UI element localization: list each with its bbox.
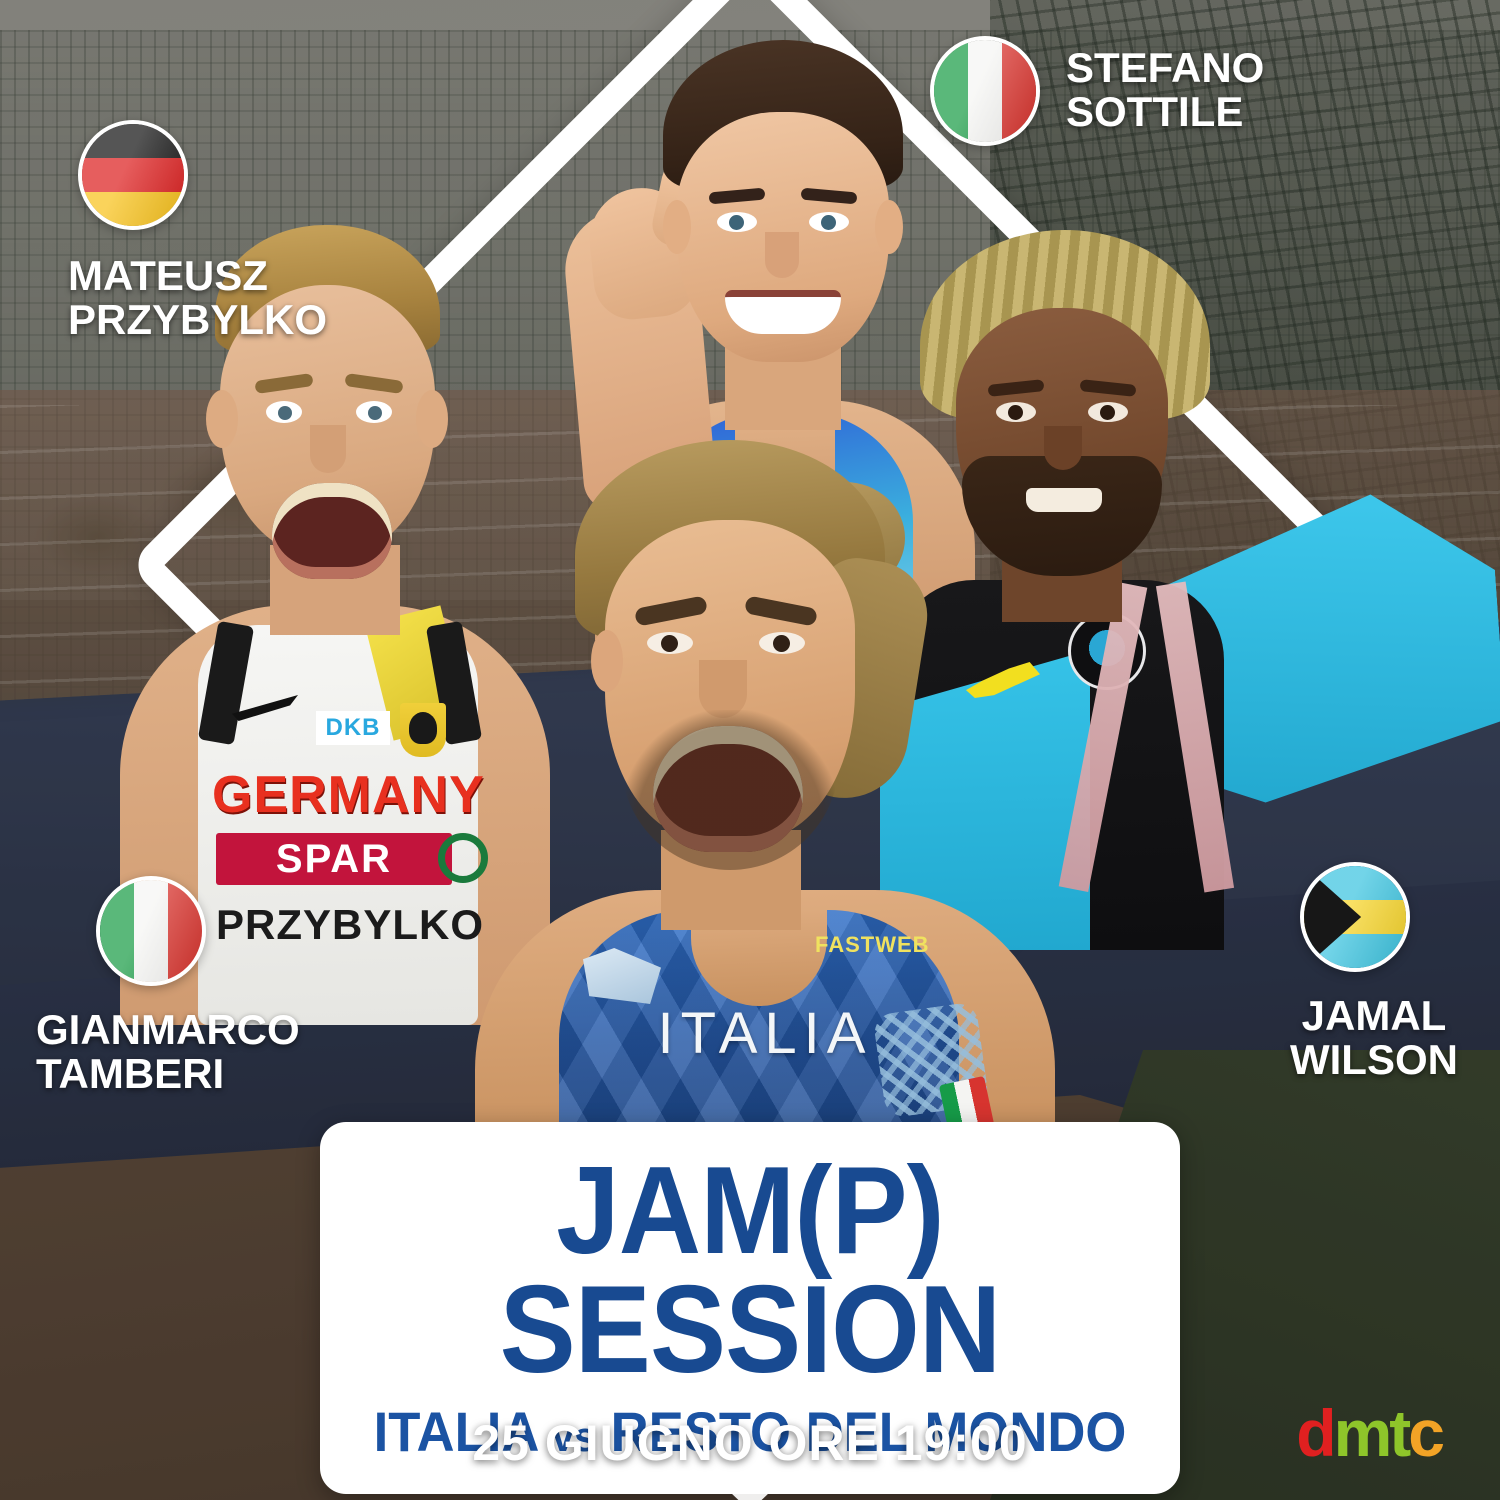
flag-germany-icon — [78, 120, 188, 230]
tamberi-ear-left — [591, 630, 623, 692]
logo-letter-c: c — [1408, 1396, 1442, 1470]
przybylko-pupil-left — [278, 406, 292, 420]
flag-italy-icon — [930, 36, 1040, 146]
event-date-time: 25 GIUGNO ORE 19:00 — [472, 1414, 1027, 1472]
athlete-label-tamberi: GIANMARCO TAMBERI — [96, 876, 300, 1095]
germany-jersey-text: GERMANY — [212, 765, 462, 825]
przybylko-mouth — [272, 483, 392, 579]
event-title: JAM(P) SESSION — [354, 1152, 1145, 1390]
tamberi-pupil-left — [661, 635, 678, 652]
dmtc-logo: dmtc — [1296, 1400, 1442, 1466]
logo-letter-t: t — [1389, 1396, 1408, 1470]
card-notch-icon — [730, 1492, 770, 1500]
wilson-pupil-left — [1008, 405, 1023, 420]
wilson-pupil-right — [1100, 405, 1115, 420]
sottile-nose — [765, 232, 799, 278]
sottile-smile — [725, 290, 841, 334]
sottile-ear-left — [663, 200, 691, 254]
dkb-sponsor-logo: DKB — [316, 711, 390, 745]
tamberi-nose — [699, 660, 747, 718]
flag-italy-icon — [96, 876, 206, 986]
athlete-photo-tamberi: FASTWEB ITALIA — [455, 420, 1075, 1140]
poster-canvas: DKB GERMANY SPAR PRZYBYLKO — [0, 0, 1500, 1500]
athlete-label-wilson: JAMAL WILSON — [1300, 862, 1458, 1081]
athlete-name-tamberi: GIANMARCO TAMBERI — [36, 1008, 300, 1095]
logo-letter-m: m — [1334, 1396, 1390, 1470]
przybylko-pupil-right — [368, 406, 382, 420]
athlete-label-sottile: STEFANO SOTTILE — [930, 36, 1264, 146]
fastweb-sponsor-logo: FASTWEB — [815, 932, 930, 958]
athlete-name-przybylko: MATEUSZ PRZYBYLKO — [68, 254, 327, 341]
tamberi-pupil-right — [773, 635, 790, 652]
przybylko-nose — [310, 425, 346, 473]
athlete-name-wilson: JAMAL WILSON — [1290, 994, 1458, 1081]
przybylko-ear-right — [416, 390, 448, 448]
przybylko-ear-left — [206, 390, 238, 448]
sottile-pupil-left — [729, 215, 744, 230]
sottile-pupil-right — [821, 215, 836, 230]
german-eagle-crest-icon — [400, 703, 446, 757]
athlete-name-sottile: STEFANO SOTTILE — [1066, 46, 1264, 133]
athlete-label-przybylko: MATEUSZ PRZYBYLKO — [78, 120, 327, 341]
tamberi-mouth — [653, 726, 803, 852]
logo-letter-d: d — [1296, 1396, 1333, 1470]
flag-bahamas-icon — [1300, 862, 1410, 972]
